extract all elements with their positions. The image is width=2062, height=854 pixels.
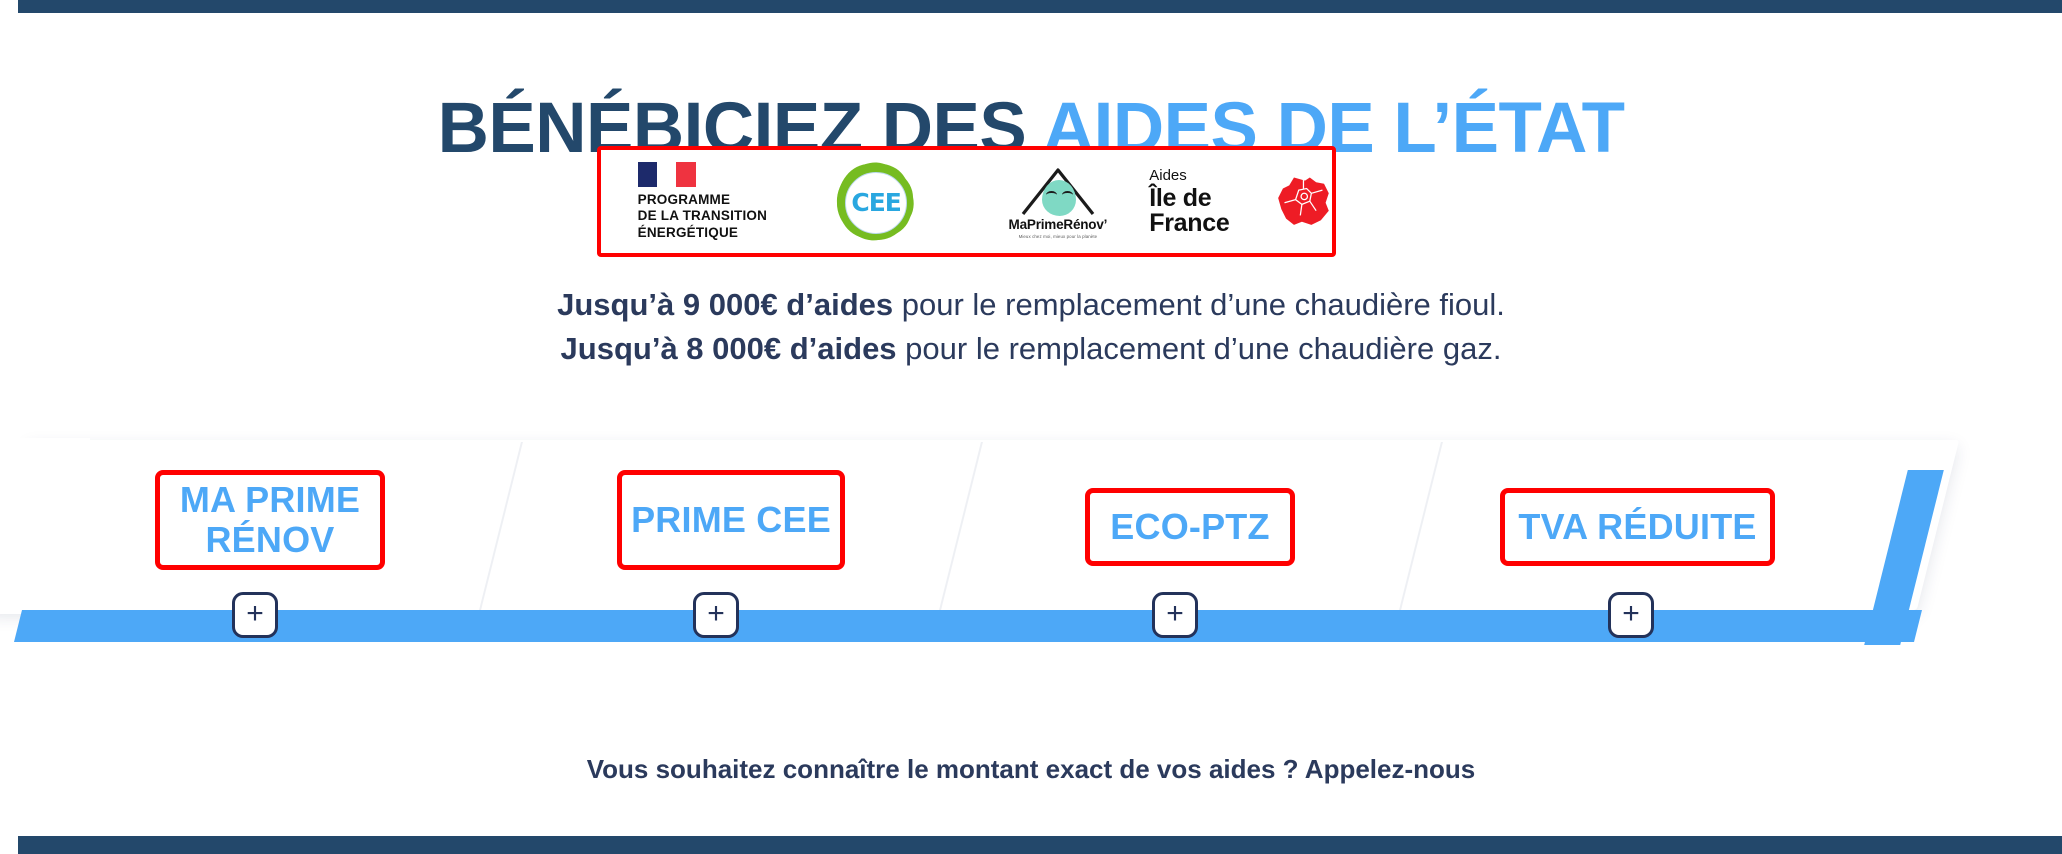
aid-amount-rest-fioul: pour le remplacement d’une chaudière fio…: [893, 287, 1505, 322]
call-to-action-text: Vous souhaitez connaître le montant exac…: [0, 754, 2062, 785]
plus-icon-2: +: [1166, 599, 1184, 629]
aid-card-tva-reduite[interactable]: TVA RÉDUITE: [1500, 488, 1775, 566]
logo-line-2: DE LA TRANSITION: [638, 208, 767, 224]
logo-maprimerenov: MaPrimeRénov’ Mieux chez moi, mieux pour…: [967, 150, 1150, 253]
house-roof-icon: [1015, 165, 1101, 215]
aid-card-label-3: TVA RÉDUITE: [1518, 507, 1756, 547]
aid-card-label-0: MA PRIME RÉNOV: [160, 480, 380, 561]
aid-expand-button-eco-ptz[interactable]: +: [1152, 592, 1198, 638]
aid-amount-lines: Jusqu’à 9 000€ d’aides pour le remplacem…: [0, 283, 2062, 371]
maprimerenov-tagline: Mieux chez moi, mieux pour la planète: [1019, 233, 1098, 239]
aid-card-label-2: ECO-PTZ: [1110, 507, 1269, 547]
aid-card-eco-ptz[interactable]: ECO-PTZ: [1085, 488, 1295, 566]
ile-de-france-map-icon: [1275, 169, 1332, 235]
logo-line-1: PROGRAMME: [638, 192, 767, 208]
ribbon-left-mask: [0, 438, 90, 614]
logo-line-3: ÉNERGÉTIQUE: [638, 225, 767, 241]
top-accent-bar: [18, 0, 2062, 13]
aid-expand-button-prime-cee[interactable]: +: [693, 592, 739, 638]
aid-amount-line-gaz: Jusqu’à 8 000€ d’aides pour le remplacem…: [0, 327, 2062, 371]
logo-cee: CEE: [784, 150, 967, 253]
aids-ribbon: MA PRIME RÉNOV + PRIME CEE + ECO-PTZ + T…: [0, 430, 2062, 660]
idf-small-label: Aides: [1149, 168, 1187, 183]
plus-icon-1: +: [707, 599, 725, 629]
bottom-accent-bar: [18, 836, 2062, 854]
idf-big-label: Île de France: [1149, 186, 1267, 236]
aid-card-ma-prime-renov[interactable]: MA PRIME RÉNOV: [155, 470, 385, 570]
cee-label: CEE: [851, 188, 901, 217]
cee-badge-icon: CEE: [837, 164, 913, 240]
aid-amount-line-fioul: Jusqu’à 9 000€ d’aides pour le remplacem…: [0, 283, 2062, 327]
plus-icon-0: +: [246, 599, 264, 629]
logo-programme-transition-energetique: PROGRAMME DE LA TRANSITION ÉNERGÉTIQUE: [601, 150, 784, 253]
logo-aides-ile-de-france: Aides Île de France: [1149, 150, 1332, 253]
aid-card-prime-cee[interactable]: PRIME CEE: [617, 470, 845, 570]
aid-amount-bold-gaz: Jusqu’à 8 000€ d’aides: [561, 331, 897, 366]
maprimerenov-label: MaPrimeRénov’: [1009, 217, 1108, 232]
partner-logos-box: PROGRAMME DE LA TRANSITION ÉNERGÉTIQUE C…: [597, 146, 1336, 257]
aid-amount-bold-fioul: Jusqu’à 9 000€ d’aides: [557, 287, 893, 322]
plus-icon-3: +: [1622, 599, 1640, 629]
aid-expand-button-ma-prime-renov[interactable]: +: [232, 592, 278, 638]
french-flag-icon: [638, 162, 696, 187]
aid-expand-button-tva-reduite[interactable]: +: [1608, 592, 1654, 638]
aid-card-label-1: PRIME CEE: [631, 500, 831, 540]
aid-amount-rest-gaz: pour le remplacement d’une chaudière gaz…: [897, 331, 1502, 366]
